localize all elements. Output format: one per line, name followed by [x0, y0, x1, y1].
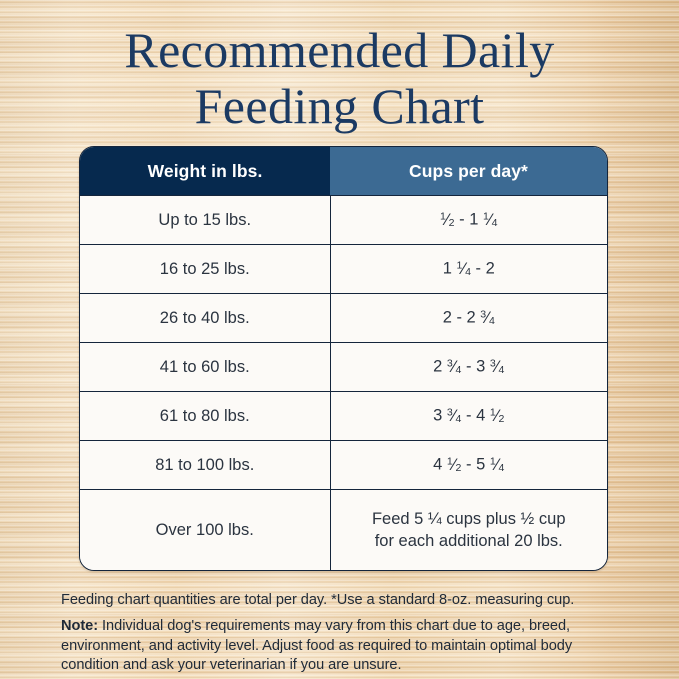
- fraction-denominator: 4: [492, 217, 498, 229]
- cups-text: - 1: [455, 211, 483, 229]
- fraction-denominator: 2: [498, 413, 504, 425]
- footnote-note: Note: Individual dog's requirements may …: [61, 617, 621, 676]
- cups-fraction: 1⁄2: [440, 211, 455, 229]
- footnote-note-text: Individual dog's requirements may vary f…: [61, 618, 572, 673]
- feeding-chart-page: Recommended Daily Feeding Chart Weight i…: [0, 0, 679, 679]
- cups-fraction: 1⁄4: [490, 456, 505, 474]
- cups-fraction: 1⁄4: [483, 211, 498, 229]
- fraction-denominator: 4: [498, 364, 504, 376]
- cell-cups: 1 1⁄4 - 2: [330, 245, 607, 294]
- table-header-row: Weight in lbs. Cups per day*: [80, 147, 607, 196]
- table-body: Up to 15 lbs.1⁄2 - 1 1⁄416 to 25 lbs.1 1…: [80, 196, 607, 571]
- table-row: 26 to 40 lbs.2 - 2 3⁄4: [80, 294, 607, 343]
- cups-text: 3: [433, 407, 447, 425]
- footnote-measuring-cup: Feeding chart quantities are total per d…: [61, 591, 621, 610]
- cups-text: 4: [433, 456, 447, 474]
- footnotes: Feeding chart quantities are total per d…: [61, 591, 621, 676]
- cups-text: 2 - 2: [443, 309, 481, 327]
- cups-text: - 2: [471, 260, 495, 278]
- table-row: 61 to 80 lbs.3 3⁄4 - 4 1⁄2: [80, 392, 607, 441]
- page-title: Recommended Daily Feeding Chart: [0, 22, 679, 134]
- fraction-denominator: 4: [498, 462, 504, 474]
- cups-text: 2: [433, 358, 447, 376]
- cups-text: 1: [443, 260, 457, 278]
- cups-fraction: 3⁄4: [480, 309, 495, 327]
- cell-cups: Feed 5 ¼ cups plus ½ cupfor each additio…: [330, 490, 607, 571]
- footnote-note-label: Note:: [61, 618, 98, 634]
- cell-cups: 2 - 2 3⁄4: [330, 294, 607, 343]
- feeding-chart-table: Weight in lbs. Cups per day* Up to 15 lb…: [80, 147, 607, 570]
- table-row: 41 to 60 lbs.2 3⁄4 - 3 3⁄4: [80, 343, 607, 392]
- page-title-line-2: Feeding Chart: [0, 78, 679, 134]
- cell-cups: 4 1⁄2 - 5 1⁄4: [330, 441, 607, 490]
- cell-cups-line: for each additional 20 lbs.: [337, 530, 602, 552]
- table-row: Over 100 lbs.Feed 5 ¼ cups plus ½ cupfor…: [80, 490, 607, 571]
- cell-weight: 81 to 100 lbs.: [80, 441, 330, 490]
- cell-cups-line: Feed 5 ¼ cups plus ½ cup: [337, 508, 602, 530]
- cups-fraction: 1⁄2: [490, 407, 505, 425]
- cell-weight: 41 to 60 lbs.: [80, 343, 330, 392]
- cell-weight: 26 to 40 lbs.: [80, 294, 330, 343]
- cell-weight: Up to 15 lbs.: [80, 196, 330, 245]
- cell-weight: Over 100 lbs.: [80, 490, 330, 571]
- cups-text: - 4: [461, 407, 489, 425]
- table-row: 81 to 100 lbs.4 1⁄2 - 5 1⁄4: [80, 441, 607, 490]
- cups-text: - 5: [461, 456, 489, 474]
- cell-cups: 3 3⁄4 - 4 1⁄2: [330, 392, 607, 441]
- cell-cups: 2 3⁄4 - 3 3⁄4: [330, 343, 607, 392]
- column-header-cups: Cups per day*: [330, 147, 607, 196]
- cups-text: - 3: [461, 358, 489, 376]
- cups-fraction: 3⁄4: [490, 358, 505, 376]
- cell-weight: 61 to 80 lbs.: [80, 392, 330, 441]
- cell-cups: 1⁄2 - 1 1⁄4: [330, 196, 607, 245]
- fraction-denominator: 4: [489, 315, 495, 327]
- column-header-weight: Weight in lbs.: [80, 147, 330, 196]
- cell-weight: 16 to 25 lbs.: [80, 245, 330, 294]
- cups-fraction: 1⁄4: [456, 260, 471, 278]
- table-row: Up to 15 lbs.1⁄2 - 1 1⁄4: [80, 196, 607, 245]
- cups-fraction: 3⁄4: [447, 358, 462, 376]
- cups-fraction: 3⁄4: [447, 407, 462, 425]
- feeding-chart-table-container: Weight in lbs. Cups per day* Up to 15 lb…: [79, 146, 608, 571]
- page-title-line-1: Recommended Daily: [124, 22, 554, 78]
- table-row: 16 to 25 lbs.1 1⁄4 - 2: [80, 245, 607, 294]
- cups-fraction: 1⁄2: [447, 456, 462, 474]
